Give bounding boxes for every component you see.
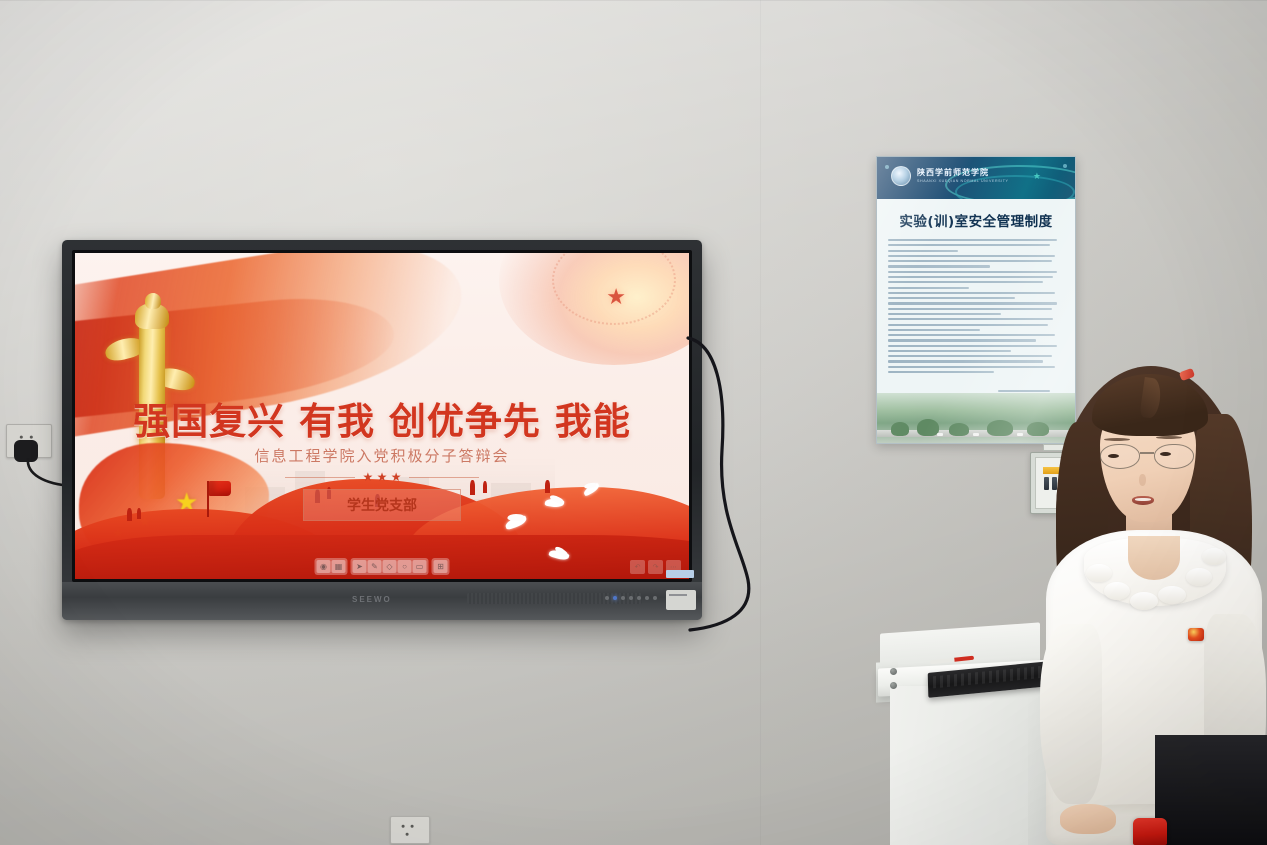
tree (917, 419, 939, 436)
pen-icon[interactable]: ✎ (368, 560, 382, 573)
sleeve-left (1040, 624, 1102, 804)
mouth (1132, 496, 1154, 505)
port-panel (666, 590, 696, 610)
lectern-knob[interactable] (890, 682, 897, 689)
cursor-icon[interactable]: ➤ (353, 560, 367, 573)
power-indicator[interactable] (613, 596, 617, 600)
control-dot[interactable] (645, 596, 649, 600)
display-bezel: ★ (72, 250, 692, 582)
control-dot[interactable] (637, 596, 641, 600)
nose (1139, 474, 1146, 486)
control-dot[interactable] (629, 596, 633, 600)
tree (949, 423, 969, 436)
eraser-icon[interactable]: ◇ (383, 560, 397, 573)
university-logo (891, 166, 911, 186)
divider-line (409, 477, 479, 478)
apps-grid-icon[interactable]: ▦ (332, 560, 346, 573)
eye-left (1108, 454, 1119, 458)
grid-tool-icon[interactable]: ⊞ (434, 560, 448, 573)
poster-header-band: 陕西学前师范学院 SHAANXI XUEQIAN NORMAL UNIVERSI… (877, 157, 1075, 199)
toolbar-group-tools[interactable]: ➤ ✎ ◇ ○ ▭ (351, 558, 429, 575)
party-emblem-pin (1188, 628, 1204, 641)
ring-decoration (499, 253, 689, 365)
red-container-cap (1133, 818, 1167, 845)
dot-decoration (885, 165, 889, 169)
presentation-screen[interactable]: ★ (75, 253, 689, 579)
control-dot[interactable] (621, 596, 625, 600)
shape-rectangle-icon[interactable]: ▭ (413, 560, 427, 573)
annotation-toolbar[interactable]: ◉ ▦ ➤ ✎ ◇ ○ ▭ ⊞ (315, 558, 450, 575)
eye-right (1160, 452, 1171, 456)
department-label-box: 学生党支部 (303, 489, 461, 521)
redo-icon[interactable]: ↷ (648, 560, 663, 574)
slide-subtitle: 信息工程学院入党积极分子答辩会 (75, 445, 689, 466)
collar-ruffle (1202, 548, 1226, 565)
car (973, 433, 979, 436)
slide-title: 强国复兴 有我 创优争先 我能 (75, 391, 689, 445)
classroom-scene: ★ (0, 0, 1267, 845)
panel-bottom-bezel: SEEWO (62, 582, 702, 620)
divider-line (285, 477, 355, 478)
interactive-flat-panel[interactable]: ★ (62, 240, 702, 620)
car (1017, 433, 1023, 436)
poster-title: 实验(训)室安全管理制度 (877, 210, 1075, 230)
control-dot[interactable] (653, 596, 657, 600)
wall-seam (760, 0, 761, 845)
dot-decoration (1063, 164, 1067, 168)
eyebrow (1156, 436, 1182, 439)
car (937, 433, 943, 436)
university-name-en: SHAANXI XUEQIAN NORMAL UNIVERSITY (917, 179, 1009, 183)
tree (891, 422, 909, 436)
university-name: 陕西学前师范学院 (917, 167, 989, 178)
lectern-knob[interactable] (890, 668, 897, 675)
lens-left (1100, 444, 1140, 469)
wall-seam (0, 0, 1267, 1)
hair-clip (1179, 368, 1195, 381)
lens-right (1154, 444, 1194, 469)
chinese-flag-graphic (207, 481, 209, 517)
hand-left (1060, 804, 1116, 834)
control-dot[interactable] (605, 596, 609, 600)
outlet-holes (399, 824, 422, 834)
collar-ruffle (1104, 582, 1130, 600)
palette-icon[interactable]: ◉ (317, 560, 331, 573)
panel-sticker (666, 570, 694, 578)
collar-ruffle (1186, 568, 1212, 586)
undo-icon[interactable]: ↶ (630, 560, 645, 574)
collar-ruffle (1086, 564, 1112, 582)
eyebrow (1104, 438, 1130, 441)
decorative-star-icon: ★ (606, 286, 626, 308)
collar-ruffle (1130, 592, 1158, 610)
panel-controls[interactable] (605, 596, 657, 600)
glasses-bridge (1140, 452, 1154, 454)
brand-label: SEEWO (352, 595, 392, 604)
power-outlet[interactable] (390, 816, 430, 844)
toolbar-group-grid[interactable]: ⊞ (432, 558, 450, 575)
star-divider: ★ ★ ★ (75, 471, 689, 483)
lasso-icon[interactable]: ○ (398, 560, 412, 573)
star-icon: ★ (1033, 171, 1041, 182)
star-group: ★ ★ ★ (363, 471, 402, 483)
toolbar-group-apps[interactable]: ◉ ▦ (315, 558, 348, 575)
collar-ruffle (1158, 586, 1186, 604)
tree (987, 420, 1013, 436)
dark-fixture (1155, 735, 1267, 845)
